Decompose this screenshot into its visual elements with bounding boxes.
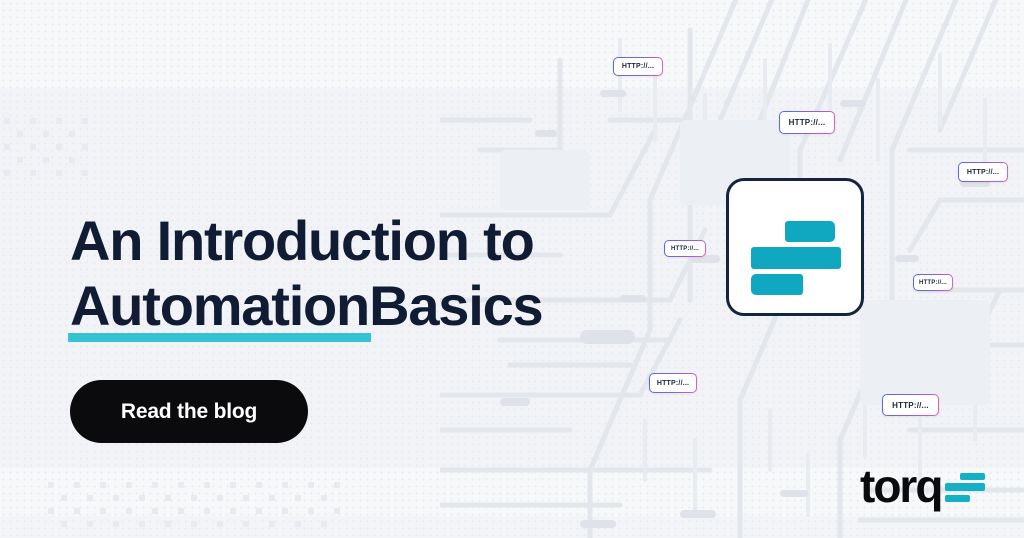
dot xyxy=(295,495,301,501)
torq-bars-icon xyxy=(945,466,985,506)
dot xyxy=(308,482,314,488)
dot xyxy=(74,482,80,488)
marketing-banner: HTTP://...HTTP://...HTTP://...HTTP://...… xyxy=(0,0,1024,538)
dot xyxy=(243,521,249,527)
dot xyxy=(243,495,249,501)
dot xyxy=(152,482,158,488)
dot xyxy=(321,521,327,527)
dot xyxy=(69,131,75,137)
dot xyxy=(126,508,132,514)
dot xyxy=(82,170,88,176)
dot xyxy=(295,521,301,527)
dot xyxy=(230,482,236,488)
dot xyxy=(87,495,93,501)
dot xyxy=(82,118,88,124)
dot xyxy=(56,118,62,124)
torq-wordmark: torq xyxy=(860,463,941,509)
torq-brand-bar-bottom xyxy=(945,495,970,502)
dot xyxy=(191,495,197,501)
dot xyxy=(61,521,67,527)
dot xyxy=(113,521,119,527)
dot xyxy=(321,495,327,501)
dot xyxy=(269,495,275,501)
dot xyxy=(69,157,75,163)
dot xyxy=(30,118,36,124)
http-badge: HTTP://... xyxy=(613,57,663,76)
http-badge: HTTP://... xyxy=(882,394,939,416)
dot xyxy=(87,521,93,527)
torq-brand-logo[interactable]: torq xyxy=(860,463,985,509)
dot xyxy=(256,508,262,514)
dot xyxy=(217,495,223,501)
dot xyxy=(204,482,210,488)
dot xyxy=(4,170,10,176)
dot xyxy=(269,521,275,527)
dot xyxy=(17,157,23,163)
dot xyxy=(256,482,262,488)
dot xyxy=(139,495,145,501)
torq-bar-middle xyxy=(751,247,841,269)
dot xyxy=(4,144,10,150)
http-badge: HTTP://... xyxy=(779,111,835,134)
dot xyxy=(48,482,54,488)
dot xyxy=(56,144,62,150)
dot xyxy=(61,495,67,501)
http-badge: HTTP://... xyxy=(913,274,953,291)
torq-tile-bars xyxy=(729,181,861,313)
dot xyxy=(126,482,132,488)
dot xyxy=(204,508,210,514)
dot xyxy=(74,508,80,514)
dot xyxy=(30,170,36,176)
dot xyxy=(282,508,288,514)
read-the-blog-button[interactable]: Read the blog xyxy=(70,380,308,443)
dot xyxy=(308,508,314,514)
dot xyxy=(113,495,119,501)
dot xyxy=(30,144,36,150)
dot xyxy=(43,131,49,137)
dot xyxy=(334,482,340,488)
torq-brand-bar-middle xyxy=(945,483,985,491)
dot xyxy=(178,508,184,514)
dot xyxy=(165,521,171,527)
http-badge: HTTP://... xyxy=(958,162,1008,182)
dot xyxy=(165,495,171,501)
dot xyxy=(282,482,288,488)
dot xyxy=(334,508,340,514)
torq-tile-icon xyxy=(726,178,864,316)
headline-line-2-rest: Basics xyxy=(369,273,542,338)
torq-bar-top xyxy=(785,221,835,242)
dot xyxy=(152,508,158,514)
dot xyxy=(100,482,106,488)
page-title: An Introduction to Automation Basics xyxy=(70,208,690,338)
dot xyxy=(4,118,10,124)
dot xyxy=(82,144,88,150)
headline-underlined-word: Automation xyxy=(70,273,369,338)
http-badge: HTTP://... xyxy=(649,373,697,393)
torq-bar-bottom xyxy=(751,274,803,295)
dot xyxy=(230,508,236,514)
dot xyxy=(100,508,106,514)
dot xyxy=(139,521,145,527)
dot xyxy=(48,508,54,514)
dot xyxy=(43,157,49,163)
dot xyxy=(191,521,197,527)
headline-line-2: Automation Basics xyxy=(70,273,690,338)
dot xyxy=(17,131,23,137)
torq-brand-bar-top xyxy=(960,473,985,480)
headline-line-1: An Introduction to xyxy=(70,208,690,273)
dot xyxy=(56,170,62,176)
dot xyxy=(217,521,223,527)
dot xyxy=(178,482,184,488)
